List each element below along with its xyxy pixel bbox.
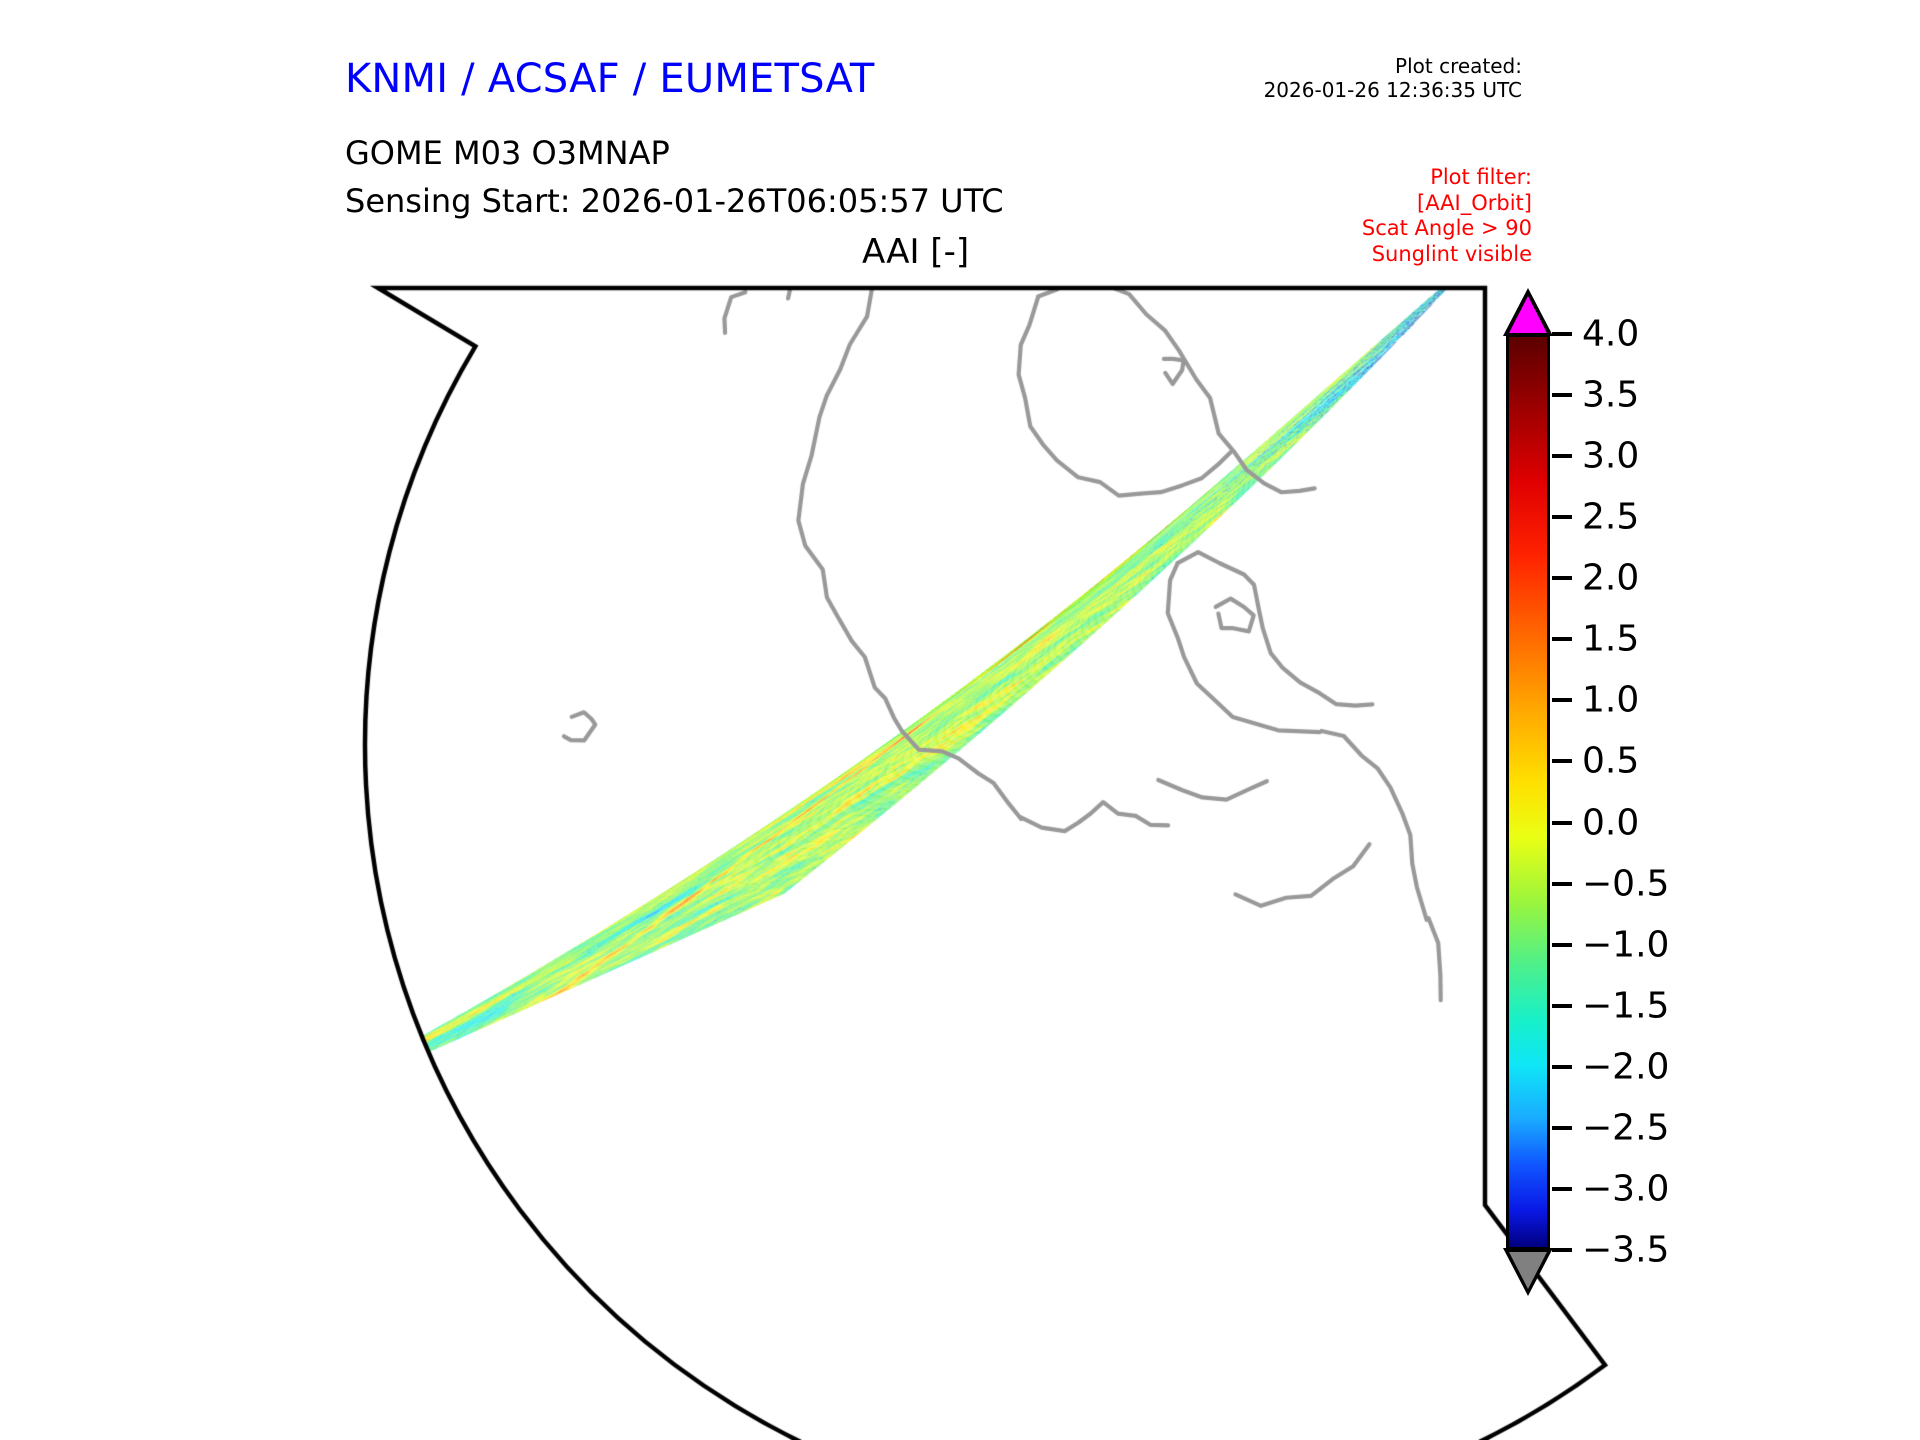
colorbar-tick-label: 1.0 — [1582, 680, 1639, 721]
colorbar-tick-label: −2.0 — [1582, 1046, 1669, 1087]
plot-created-time: 2026-01-26 12:36:35 UTC — [1264, 78, 1522, 102]
colorbar-tick-label: 4.0 — [1582, 314, 1639, 355]
colorbar-tick-label: −2.5 — [1582, 1107, 1669, 1148]
colorbar-tick — [1552, 1187, 1572, 1191]
colorbar-tick-label: 0.5 — [1582, 741, 1639, 782]
colorbar: 4.03.53.02.52.01.51.00.50.0−0.5−1.0−1.5−… — [1500, 286, 1620, 1296]
colorbar-gradient — [1509, 337, 1547, 1247]
plot-title: AAI [-] — [862, 232, 969, 272]
colorbar-tick-label: 2.0 — [1582, 558, 1639, 599]
colorbar-tick-label: 0.0 — [1582, 802, 1639, 843]
colorbar-tick-label: −0.5 — [1582, 863, 1669, 904]
colorbar-over-arrow-icon — [1503, 288, 1553, 336]
colorbar-tick — [1552, 759, 1572, 763]
organisation-title: KNMI / ACSAF / EUMETSAT — [345, 56, 875, 102]
sensing-start-line: Sensing Start: 2026-01-26T06:05:57 UTC — [345, 182, 1004, 220]
colorbar-under-arrow-icon — [1503, 1248, 1553, 1296]
product-name: GOME M03 O3MNAP — [345, 134, 670, 172]
colorbar-tick — [1552, 332, 1572, 336]
colorbar-tick-label: 2.5 — [1582, 497, 1639, 538]
colorbar-tick-label: −3.5 — [1582, 1230, 1669, 1271]
colorbar-tick — [1552, 1126, 1572, 1130]
plot-root: KNMI / ACSAF / EUMETSAT GOME M03 O3MNAP … — [0, 0, 1920, 1440]
colorbar-tick — [1552, 698, 1572, 702]
plot-filter-label: Plot filter: — [1362, 165, 1532, 191]
colorbar-tick — [1552, 515, 1572, 519]
colorbar-tick — [1552, 1248, 1572, 1252]
colorbar-tick-label: 3.5 — [1582, 375, 1639, 416]
colorbar-tick-label: −1.0 — [1582, 924, 1669, 965]
plot-filter-block: Plot filter: [AAI_Orbit] Scat Angle > 90… — [1362, 165, 1532, 267]
colorbar-tick — [1552, 1065, 1572, 1069]
plot-filter-sunglint: Sunglint visible — [1362, 242, 1532, 268]
colorbar-tick — [1552, 882, 1572, 886]
colorbar-tick — [1552, 637, 1572, 641]
colorbar-tick — [1552, 393, 1572, 397]
plot-filter-scat-angle: Scat Angle > 90 — [1362, 216, 1532, 242]
colorbar-tick-label: −3.0 — [1582, 1168, 1669, 1209]
plot-created-label: Plot created: — [1264, 54, 1522, 78]
colorbar-tick — [1552, 821, 1572, 825]
colorbar-tick — [1552, 576, 1572, 580]
colorbar-tick-label: −1.5 — [1582, 985, 1669, 1026]
colorbar-tick-label: 1.5 — [1582, 619, 1639, 660]
colorbar-tick — [1552, 943, 1572, 947]
colorbar-tick-label: 3.0 — [1582, 436, 1639, 477]
colorbar-body — [1506, 334, 1550, 1250]
colorbar-tick — [1552, 454, 1572, 458]
plot-filter-name: [AAI_Orbit] — [1362, 191, 1532, 217]
colorbar-tick — [1552, 1004, 1572, 1008]
plot-created-block: Plot created: 2026-01-26 12:36:35 UTC — [1264, 54, 1522, 103]
